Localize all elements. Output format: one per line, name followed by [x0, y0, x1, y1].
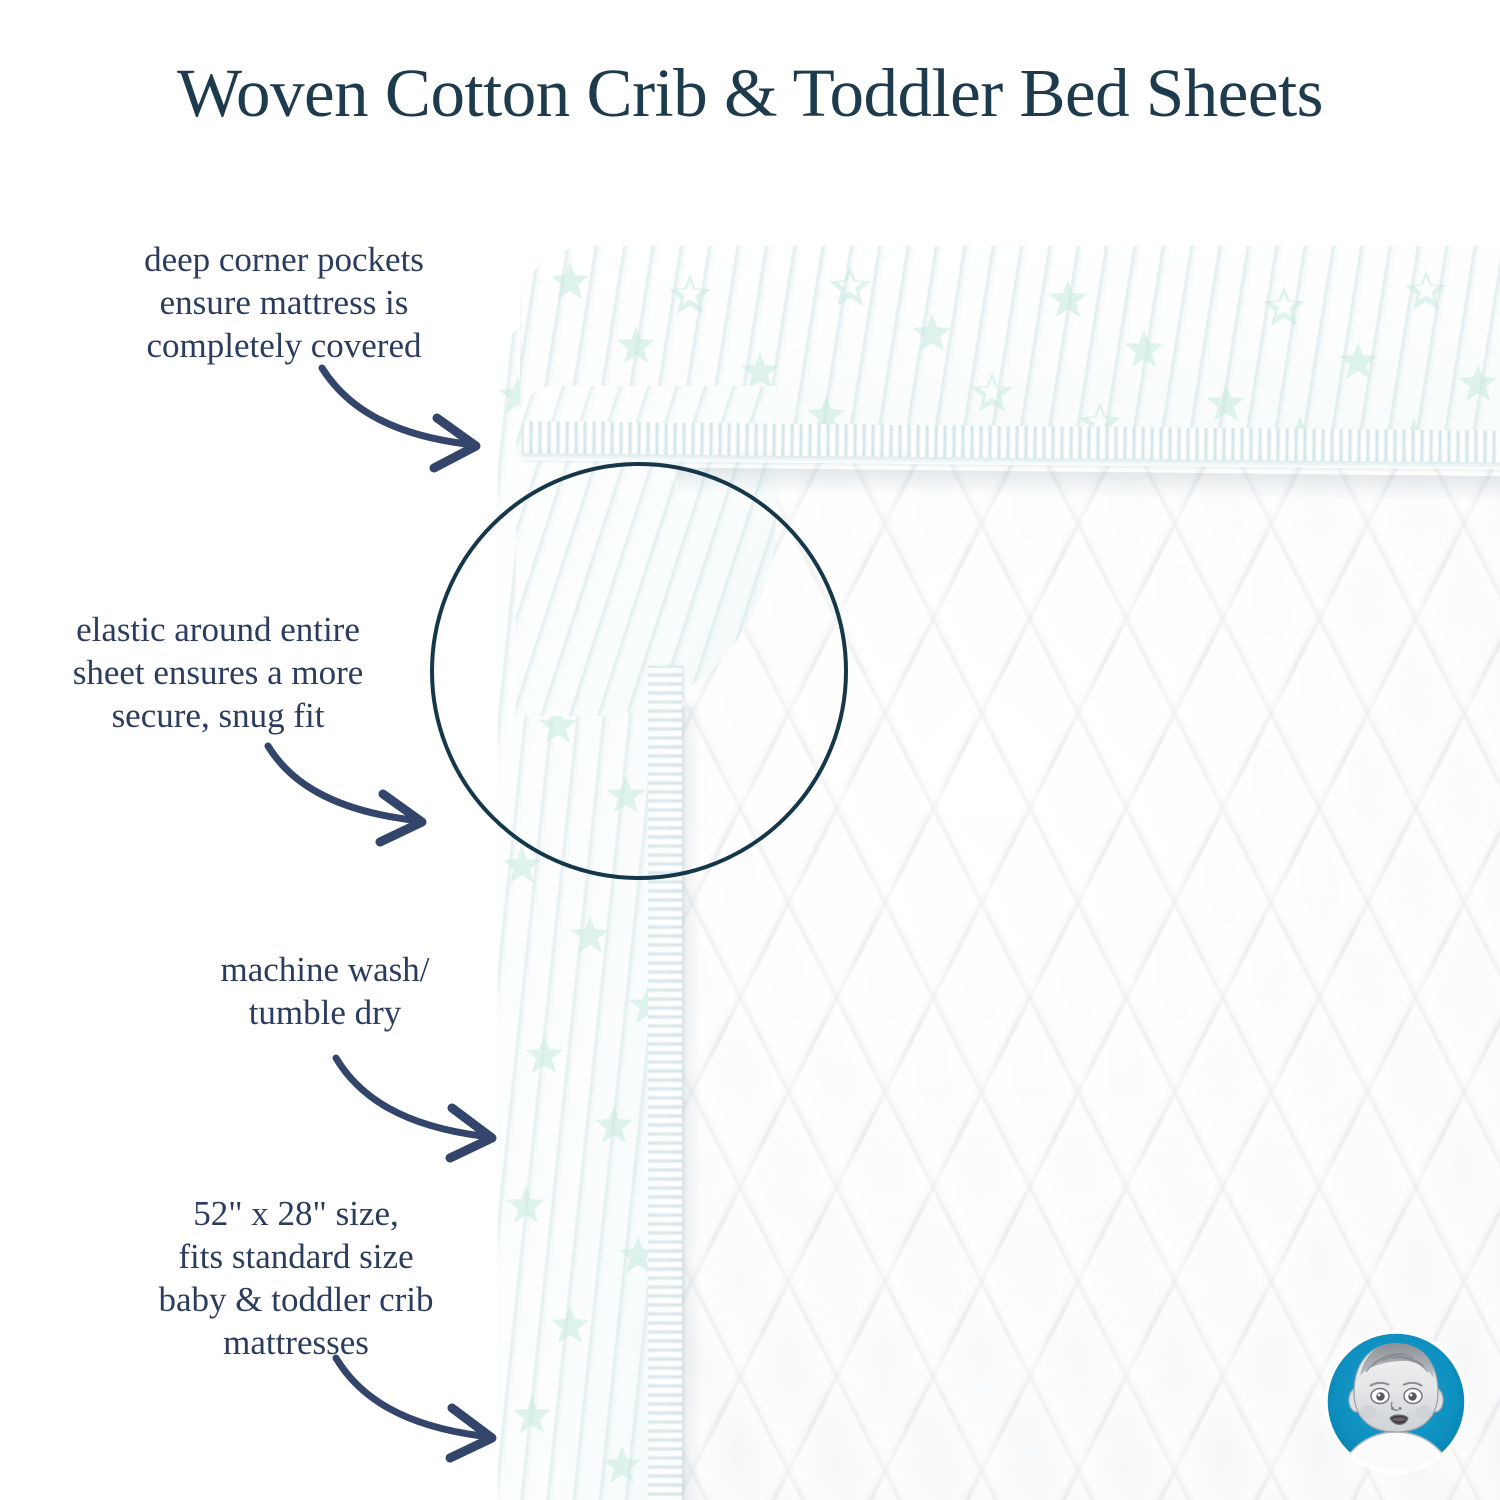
elastic-hem-side — [648, 666, 682, 1500]
callout-deep-corner-pockets: deep corner pockets ensure mattress is c… — [74, 238, 494, 367]
callout-elastic-all-around: elastic around entire sheet ensures a mo… — [8, 608, 428, 737]
gerber-baby-logo — [1322, 1328, 1470, 1476]
curved-arrow-icon — [262, 740, 472, 850]
callout-care-instructions: machine wash/ tumble dry — [130, 948, 520, 1034]
curved-arrow-icon — [316, 360, 526, 480]
product-photo — [498, 236, 1500, 1500]
infographic-canvas: Woven Cotton Crib & Toddler Bed Sheets — [0, 0, 1500, 1500]
sheet-overlap-shadow-vertical — [680, 706, 702, 1500]
callout-size-and-fit: 52" x 28" size, fits standard size baby … — [86, 1192, 506, 1364]
page-title: Woven Cotton Crib & Toddler Bed Sheets — [0, 52, 1500, 134]
